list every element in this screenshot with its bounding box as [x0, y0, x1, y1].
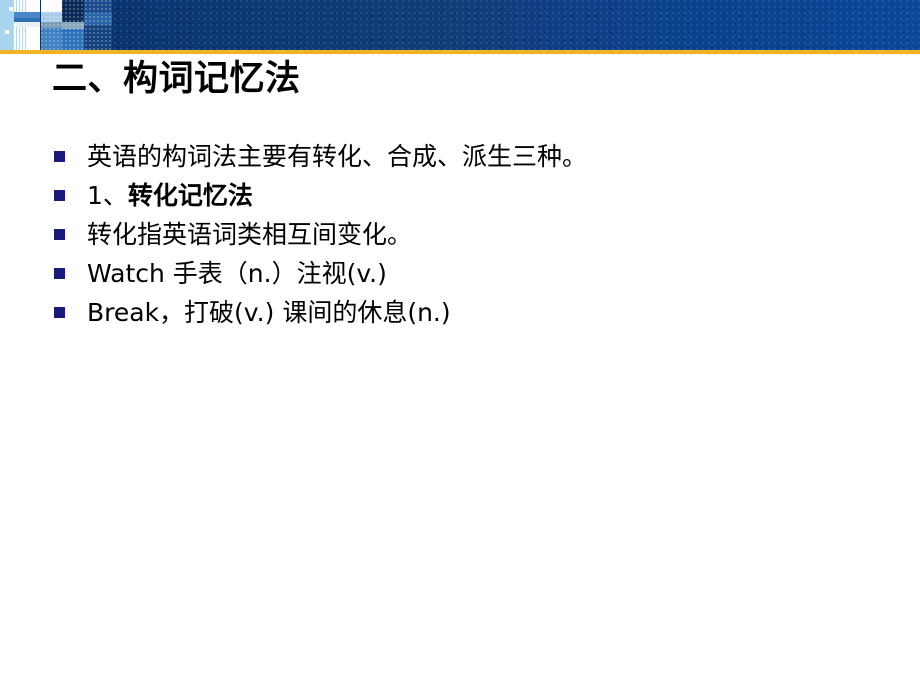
header-band	[0, 0, 920, 50]
square-bullet-icon	[54, 190, 65, 201]
list-item: 英语的构词法主要有转化、合成、派生三种。	[54, 140, 874, 174]
list-item: Break，打破(v.) 课间的休息(n.)	[54, 296, 874, 330]
square-bullet-icon	[54, 307, 65, 318]
gold-divider-rule	[0, 50, 920, 54]
square-bullet-icon	[54, 268, 65, 279]
list-item-label: 转化指英语词类相互间变化。	[87, 218, 412, 251]
list-item: Watch 手表（n.）注视(v.)	[54, 257, 874, 291]
list-item: 1、转化记忆法	[54, 179, 874, 213]
header-halftone-texture	[0, 0, 920, 50]
slide-title: 二、构词记忆法	[52, 59, 301, 99]
list-item-label: Watch 手表（n.）注视(v.)	[87, 257, 387, 290]
bullet-list: 英语的构词法主要有转化、合成、派生三种。 1、转化记忆法 转化指英语词类相互间变…	[54, 140, 874, 335]
slide: 二、构词记忆法 英语的构词法主要有转化、合成、派生三种。 1、转化记忆法 转化指…	[0, 0, 920, 690]
list-item-label: Break，打破(v.) 课间的休息(n.)	[87, 296, 451, 329]
list-item: 转化指英语词类相互间变化。	[54, 218, 874, 252]
corner-block	[5, 30, 9, 34]
list-item-label: 英语的构词法主要有转化、合成、派生三种。	[87, 140, 587, 173]
corner-block	[28, 27, 40, 50]
corner-dot-texture	[41, 0, 112, 50]
square-bullet-icon	[54, 229, 65, 240]
corner-block	[9, 7, 13, 11]
square-bullet-icon	[54, 151, 65, 162]
list-item-label: 1、转化记忆法	[87, 179, 253, 212]
corner-mosaic-decoration	[0, 0, 112, 50]
